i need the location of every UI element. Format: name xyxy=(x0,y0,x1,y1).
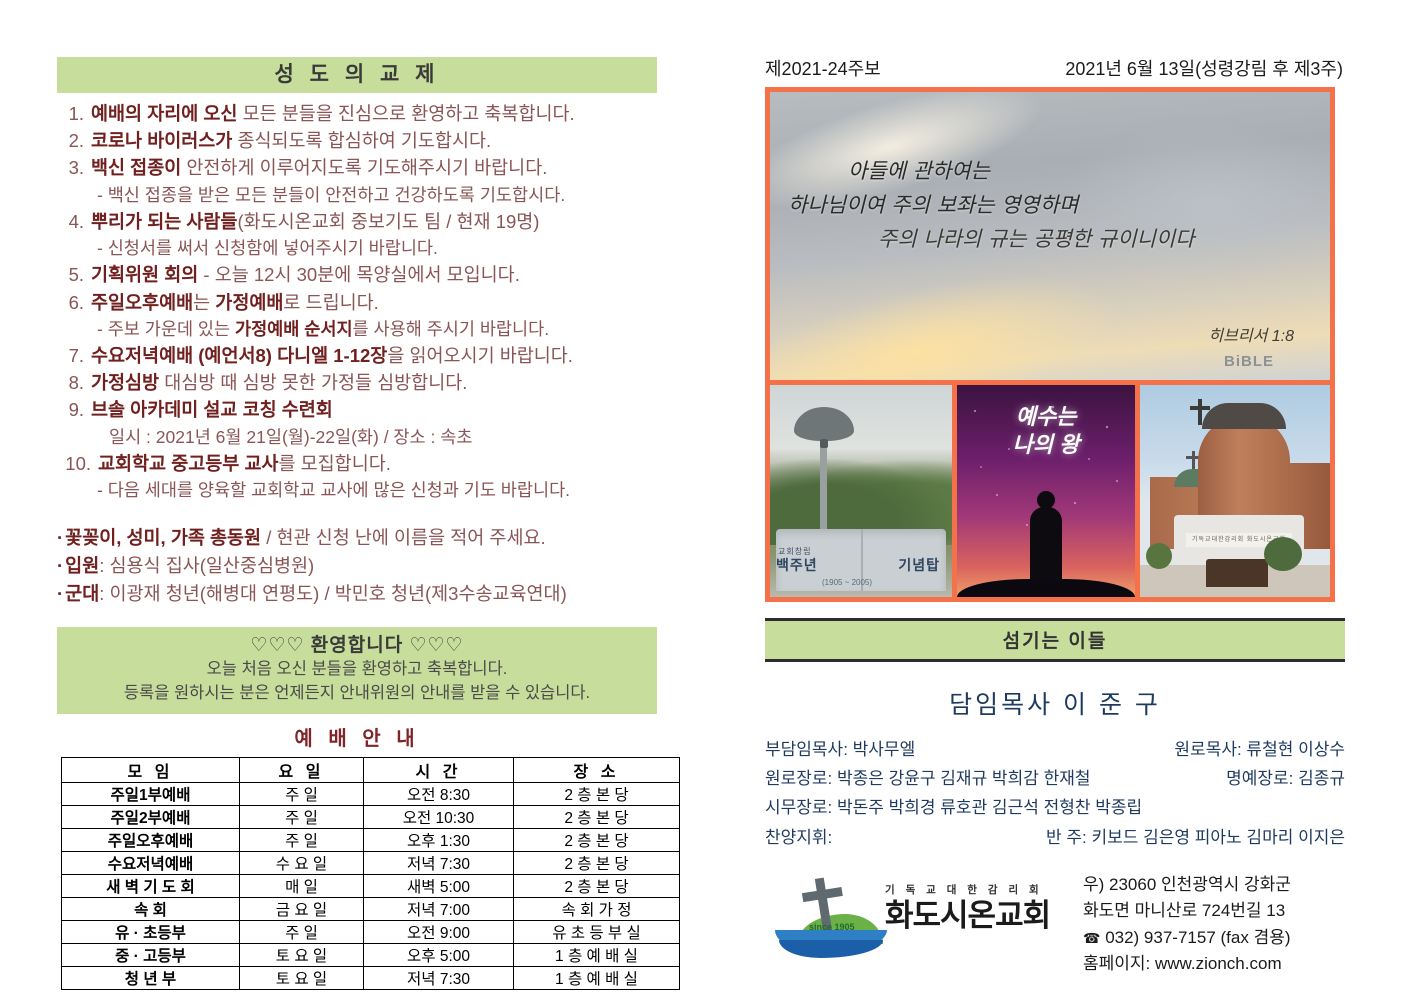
welcome-line-2: 등록을 원하시는 분은 언제든지 안내위원의 안내를 받을 수 있습니다. xyxy=(57,682,657,706)
notice-rest: - 오늘 12시 30분에 목양실에서 모입니다. xyxy=(198,264,520,285)
photo-bell-monument: 교회창립 백주년 기념탑 (1905 ~ 2005) xyxy=(770,385,952,597)
notice-item-7: 7. 수요저녁예배 (예언서8) 다니엘 1-12장을 읽어오시기 바랍니다. xyxy=(57,342,657,369)
welcome-title: ♡♡♡ 환영합니다 ♡♡♡ xyxy=(57,633,657,659)
notice-sub-10: - 다음 세대를 양육할 교회학교 교사에 많은 신청과 기도 바랍니다. xyxy=(57,477,657,503)
cell-time: 저녁 7:00 xyxy=(364,898,514,921)
verse-line-1: 아들에 관하여는 xyxy=(770,154,1330,188)
cell-meeting: 속 회 xyxy=(62,898,240,921)
cell-place: 속 회 가 정 xyxy=(514,898,680,921)
notice-text: 백신 접종이 안전하게 이루어지도록 기도해주시기 바랍니다. xyxy=(91,154,657,181)
notice-number: 3. xyxy=(57,154,91,181)
sub6-post: 를 사용해 주시기 바랍니다. xyxy=(353,319,550,339)
table-row: 중 · 고등부토 요 일오후 5:001 층 예 배 실 xyxy=(62,944,680,967)
cell-meeting: 유 · 초등부 xyxy=(62,921,240,944)
notice-list: 1. 예배의 자리에 오신 모든 분들을 진심으로 환영하고 축복합니다. 2.… xyxy=(57,100,657,503)
notice-rest-2: 로 드립니다. xyxy=(283,292,378,313)
logo-mark-icon: since 1905 xyxy=(775,878,885,956)
cell-time: 오전 10:30 xyxy=(364,806,514,829)
monument-caption-right: 기념탑 xyxy=(898,555,940,575)
notice-text: 가정심방 대심방 때 심방 못한 가정들 심방합니다. xyxy=(91,369,657,396)
small-cross-icon xyxy=(1192,451,1195,469)
table-row: 수요저녁예배수 요 일저녁 7:302 층 본 당 xyxy=(62,852,680,875)
notice-number: 2. xyxy=(57,127,91,154)
notice-emphasis: 코로나 바이러스가 xyxy=(91,130,232,151)
cell-time: 저녁 7:30 xyxy=(364,967,514,990)
notice-sub-3: - 백신 접종을 받은 모든 분들이 안전하고 건강하도록 기도합시다. xyxy=(57,182,657,208)
address-line-2: 화도면 마니산로 724번길 13 xyxy=(1083,898,1345,924)
staff-spacer xyxy=(1142,793,1345,822)
schedule-table-title: 예 배 안 내 xyxy=(57,722,657,751)
notice-item-2: 2. 코로나 바이러스가 종식되도록 합심하여 기도합시다. xyxy=(57,127,657,154)
phone-number: 032) 937-7157 (fax 겸용) xyxy=(1105,928,1290,947)
staff-right: 반 주: 키보드 김은영 피아노 김마리 이지은 xyxy=(1046,823,1345,852)
bullet-item-military: ·군대: 이광재 청년(해병대 연평도) / 박민호 청년(제3수송교육연대) xyxy=(57,580,657,608)
bullet-emphasis: 꽃꽂이, 성미, 가족 총동원 xyxy=(65,527,261,548)
notice-number: 4. xyxy=(57,208,91,235)
bullet-rest: : 이광재 청년(해병대 연평도) / 박민호 청년(제3수송교육연대) xyxy=(99,583,567,604)
cell-day: 토 요 일 xyxy=(240,944,364,967)
cell-time: 오전 9:00 xyxy=(364,921,514,944)
notice-number: 7. xyxy=(57,342,91,369)
cell-place: 유 초 등 부 실 xyxy=(514,921,680,944)
senior-pastor-name: 담임목사 이 준 구 xyxy=(765,685,1345,721)
king-line-1: 예수는 xyxy=(957,403,1135,431)
bullet-dot-icon: · xyxy=(57,527,65,548)
notice-number: 9. xyxy=(57,396,91,423)
bullet-dot-icon: · xyxy=(57,555,65,576)
notice-emphasis: 예배의 자리에 오신 xyxy=(91,103,237,124)
verse-text: 아들에 관하여는 하나님이여 주의 보좌는 영영하며 주의 나라의 규는 공평한… xyxy=(770,154,1330,256)
cell-day: 주 일 xyxy=(240,783,364,806)
cell-meeting: 수요저녁예배 xyxy=(62,852,240,875)
cell-day: 토 요 일 xyxy=(240,967,364,990)
notice-rest: 대심방 때 심방 못한 가정들 심방합니다. xyxy=(159,372,467,393)
bulletin-header: 제2021-24주보 2021년 6월 13일(성령강림 후 제3주) xyxy=(765,55,1345,87)
notice-text: 교회학교 중고등부 교사를 모집합니다. xyxy=(98,450,657,477)
notice-sub-4: - 신청서를 써서 신청함에 넣어주시기 바랍니다. xyxy=(57,235,657,261)
servants-section-title: 섬기는 이들 xyxy=(765,618,1345,662)
wave-shape xyxy=(779,940,883,958)
table-row: 청 년 부토 요 일저녁 7:301 층 예 배 실 xyxy=(62,967,680,990)
cell-time: 새벽 5:00 xyxy=(364,875,514,898)
table-row: 주일오후예배주 일오후 1:302 층 본 당 xyxy=(62,829,680,852)
bullet-list: ·꽃꽂이, 성미, 가족 총동원 / 현관 신청 난에 이름을 적어 주세요. … xyxy=(57,524,657,608)
notice-emphasis: 뿌리가 되는 사람들 xyxy=(91,211,237,232)
staff-left: 찬양지휘: xyxy=(765,823,832,852)
bullet-rest: / 현관 신청 난에 이름을 적어 주세요. xyxy=(261,527,546,548)
notice-number: 8. xyxy=(57,369,91,396)
bullet-item-hospital: ·입원: 심용식 집사(일산중심병원) xyxy=(57,552,657,580)
staff-right: 명예장로: 김종규 xyxy=(1226,764,1345,793)
notice-rest: 를 모집합니다. xyxy=(278,453,390,474)
cell-place: 2 층 본 당 xyxy=(514,783,680,806)
cell-day: 금 요 일 xyxy=(240,898,364,921)
notice-rest: 모든 분들을 진심으로 환영하고 축복합니다. xyxy=(237,103,574,124)
notice-emphasis: 기획위원 회의 xyxy=(91,264,198,285)
bush-shape xyxy=(1146,543,1172,569)
notice-item-9: 9. 브솔 아카데미 설교 코칭 수련회 xyxy=(57,396,657,423)
notice-rest: 는 xyxy=(193,292,215,313)
church-logo: since 1905 기 독 교 대 한 감 리 회 화도시온교회 xyxy=(765,872,1075,964)
photo-collage: 아들에 관하여는 하나님이여 주의 보좌는 영영하며 주의 나라의 규는 공평한… xyxy=(765,87,1335,602)
staff-row: 원로장로: 박종은 강윤구 김재규 박희감 한재철 명예장로: 김종규 xyxy=(765,764,1345,793)
cell-day: 주 일 xyxy=(240,806,364,829)
monument-caption-left: 백주년 xyxy=(776,555,818,575)
th-place: 장 소 xyxy=(514,758,680,783)
staff-left: 부담임목사: 박사무엘 xyxy=(765,735,915,764)
cell-meeting: 주일2부예배 xyxy=(62,806,240,829)
cell-meeting: 중 · 고등부 xyxy=(62,944,240,967)
cell-meeting: 새 벽 기 도 회 xyxy=(62,875,240,898)
notice-item-1: 1. 예배의 자리에 오신 모든 분들을 진심으로 환영하고 축복합니다. xyxy=(57,100,657,127)
staff-right: 원로목사: 류철현 이상수 xyxy=(1174,735,1345,764)
denomination-name: 기 독 교 대 한 감 리 회 xyxy=(885,882,1050,897)
phone-line: ☎ 032) 937-7157 (fax 겸용) xyxy=(1083,925,1345,951)
church-door-shape xyxy=(1206,559,1268,587)
cell-day: 수 요 일 xyxy=(240,852,364,875)
bible-watermark: BiBLE xyxy=(1224,353,1274,370)
verse-reference: 히브리서 1:8 xyxy=(1208,322,1294,346)
table-row: 속 회금 요 일저녁 7:00속 회 가 정 xyxy=(62,898,680,921)
bulletin-page: 성 도 의 교 제 1. 예배의 자리에 오신 모든 분들을 진심으로 환영하고… xyxy=(0,0,1403,992)
staff-spacer xyxy=(915,735,1174,764)
logo-text-block: 기 독 교 대 한 감 리 회 화도시온교회 xyxy=(885,882,1050,933)
website-line[interactable]: 홈페이지: www.zionch.com xyxy=(1083,951,1345,977)
notice-item-5: 5. 기획위원 회의 - 오늘 12시 30분에 목양실에서 모입니다. xyxy=(57,261,657,288)
notice-rest: 을 읽어오시기 바랍니다. xyxy=(387,345,573,366)
staff-row: 부담임목사: 박사무엘 원로목사: 류철현 이상수 xyxy=(765,735,1345,764)
notice-rest: 안전하게 이루어지도록 기도해주시기 바랍니다. xyxy=(181,157,547,178)
table-row: 주일2부예배주 일오전 10:302 층 본 당 xyxy=(62,806,680,829)
th-day: 요 일 xyxy=(240,758,364,783)
photo-row: 교회창립 백주년 기념탑 (1905 ~ 2005) 예수는 나의 왕 xyxy=(770,385,1330,597)
cell-place: 2 층 본 당 xyxy=(514,875,680,898)
monument-years: (1905 ~ 2005) xyxy=(822,578,872,587)
person-silhouette-icon xyxy=(1030,507,1062,581)
cell-place: 2 층 본 당 xyxy=(514,852,680,875)
cell-meeting: 주일오후예배 xyxy=(62,829,240,852)
cell-time: 오전 8:30 xyxy=(364,783,514,806)
cell-place: 1 층 예 배 실 xyxy=(514,944,680,967)
notice-text: 브솔 아카데미 설교 코칭 수련회 xyxy=(91,396,657,423)
hero-photo-sky-verse: 아들에 관하여는 하나님이여 주의 보좌는 영영하며 주의 나라의 규는 공평한… xyxy=(770,92,1330,380)
notice-emphasis: 백신 접종이 xyxy=(91,157,181,178)
photo-church-building: 기독교대한감리회 화도시온교회 xyxy=(1140,385,1330,597)
bell-clapper-shape xyxy=(820,439,828,448)
notice-number: 6. xyxy=(57,289,91,316)
notice-sub-6: - 주보 가운데 있는 가정예배 순서지를 사용해 주시기 바랍니다. xyxy=(57,316,657,342)
cell-meeting: 주일1부예배 xyxy=(62,783,240,806)
bell-icon xyxy=(794,407,854,441)
staff-row: 시무장로: 박돈주 박희경 류호관 김근석 전형찬 박종립 xyxy=(765,793,1345,822)
church-dome-shape xyxy=(1202,403,1286,429)
verse-line-3: 주의 나라의 규는 공평한 규이니이다 xyxy=(770,222,1330,256)
sub6-pre: - 주보 가운데 있는 xyxy=(97,319,235,339)
staff-left: 원로장로: 박종은 강윤구 김재규 박희감 한재철 xyxy=(765,764,1091,793)
telephone-icon: ☎ xyxy=(1083,930,1100,946)
footer: since 1905 기 독 교 대 한 감 리 회 화도시온교회 우) 230… xyxy=(765,872,1345,977)
cell-time: 저녁 7:30 xyxy=(364,852,514,875)
notice-emphasis: 브솔 아카데미 설교 코칭 수련회 xyxy=(91,399,333,420)
notice-text: 주일오후예배는 가정예배로 드립니다. xyxy=(91,289,657,316)
th-time: 시 간 xyxy=(364,758,514,783)
notice-number: 1. xyxy=(57,100,91,127)
left-column: 성 도 의 교 제 1. 예배의 자리에 오신 모든 분들을 진심으로 환영하고… xyxy=(57,57,657,990)
notice-item-6: 6. 주일오후예배는 가정예배로 드립니다. xyxy=(57,289,657,316)
notice-text: 수요저녁예배 (예언서8) 다니엘 1-12장을 읽어오시기 바랍니다. xyxy=(91,342,657,369)
notice-text: 코로나 바이러스가 종식되도록 합심하여 기도합시다. xyxy=(91,127,657,154)
notice-sub-9: 일시 : 2021년 6월 21일(월)-22일(화) / 장소 : 속초 xyxy=(57,424,657,450)
cell-meeting: 청 년 부 xyxy=(62,967,240,990)
king-line-2: 나의 왕 xyxy=(957,431,1135,459)
church-name: 화도시온교회 xyxy=(885,899,1050,933)
cell-time: 오후 1:30 xyxy=(364,829,514,852)
bullet-emphasis: 군대 xyxy=(65,583,99,604)
cell-day: 주 일 xyxy=(240,921,364,944)
notice-emphasis: 주일오후예배 xyxy=(91,292,193,313)
address-line-1: 우) 23060 인천광역시 강화군 xyxy=(1083,872,1345,898)
table-row: 새 벽 기 도 회매 일새벽 5:002 층 본 당 xyxy=(62,875,680,898)
cross-icon xyxy=(1198,399,1202,425)
right-column: 제2021-24주보 2021년 6월 13일(성령강림 후 제3주) 아들에 … xyxy=(765,55,1345,977)
cell-day: 매 일 xyxy=(240,875,364,898)
notice-text: 뿌리가 되는 사람들(화도시온교회 중보기도 팀 / 현재 19명) xyxy=(91,208,657,235)
staff-spacer xyxy=(1091,764,1227,793)
notice-rest: (화도시온교회 중보기도 팀 / 현재 19명) xyxy=(237,211,539,232)
section-title-fellowship: 성 도 의 교 제 xyxy=(57,57,657,93)
notice-item-3: 3. 백신 접종이 안전하게 이루어지도록 기도해주시기 바랍니다. xyxy=(57,154,657,181)
table-row: 유 · 초등부주 일오전 9:00유 초 등 부 실 xyxy=(62,921,680,944)
bulletin-number: 제2021-24주보 xyxy=(765,55,881,81)
notice-number: 5. xyxy=(57,261,91,288)
staff-row: 찬양지휘: 반 주: 키보드 김은영 피아노 김마리 이지은 xyxy=(765,823,1345,852)
welcome-box: ♡♡♡ 환영합니다 ♡♡♡ 오늘 처음 오신 분들을 환영하고 축복합니다. 등… xyxy=(57,627,657,714)
staff-left: 시무장로: 박돈주 박희경 류호관 김근석 전형찬 박종립 xyxy=(765,793,1142,822)
bulletin-date: 2021년 6월 13일(성령강림 후 제3주) xyxy=(1065,55,1345,81)
sub6-emphasis: 가정예배 순서지 xyxy=(235,319,353,339)
jesus-king-text: 예수는 나의 왕 xyxy=(957,403,1135,458)
bullet-dot-icon: · xyxy=(57,583,65,604)
cell-day: 주 일 xyxy=(240,829,364,852)
welcome-line-1: 오늘 처음 오신 분들을 환영하고 축복합니다. xyxy=(57,658,657,682)
table-row: 주일1부예배주 일오전 8:302 층 본 당 xyxy=(62,783,680,806)
photo-jesus-is-king: 예수는 나의 왕 xyxy=(957,385,1135,597)
notice-emphasis: 수요저녁예배 (예언서8) 다니엘 1-12장 xyxy=(91,345,387,366)
cell-place: 2 층 본 당 xyxy=(514,829,680,852)
bush-shape xyxy=(1264,537,1302,571)
worship-schedule-table: 모 임 요 일 시 간 장 소 주일1부예배주 일오전 8:302 층 본 당 … xyxy=(61,757,680,990)
contact-info: 우) 23060 인천광역시 강화군 화도면 마니산로 724번길 13 ☎ 0… xyxy=(1075,872,1345,977)
th-meeting: 모 임 xyxy=(62,758,240,783)
notice-item-8: 8. 가정심방 대심방 때 심방 못한 가정들 심방합니다. xyxy=(57,369,657,396)
bullet-emphasis: 입원 xyxy=(65,555,99,576)
bullet-item-flowers: ·꽃꽂이, 성미, 가족 총동원 / 현관 신청 난에 이름을 적어 주세요. xyxy=(57,524,657,552)
staff-spacer xyxy=(832,823,1046,852)
notice-item-10: 10. 교회학교 중고등부 교사를 모집합니다. xyxy=(57,450,657,477)
cell-time: 오후 5:00 xyxy=(364,944,514,967)
notice-item-4: 4. 뿌리가 되는 사람들(화도시온교회 중보기도 팀 / 현재 19명) xyxy=(57,208,657,235)
cell-place: 1 층 예 배 실 xyxy=(514,967,680,990)
staff-list: 부담임목사: 박사무엘 원로목사: 류철현 이상수 원로장로: 박종은 강윤구 … xyxy=(765,735,1345,852)
notice-text: 예배의 자리에 오신 모든 분들을 진심으로 환영하고 축복합니다. xyxy=(91,100,657,127)
notice-emphasis-2: 가정예배 xyxy=(215,292,283,313)
notice-rest: 종식되도록 합심하여 기도합시다. xyxy=(232,130,491,151)
notice-number: 10. xyxy=(57,450,98,477)
cell-place: 2 층 본 당 xyxy=(514,806,680,829)
cloud-shape xyxy=(770,241,1139,380)
bullet-rest: : 심용식 집사(일산중심병원) xyxy=(99,555,314,576)
notice-emphasis: 교회학교 중고등부 교사 xyxy=(98,453,278,474)
table-header-row: 모 임 요 일 시 간 장 소 xyxy=(62,758,680,783)
verse-line-2: 하나님이여 주의 보좌는 영영하며 xyxy=(770,188,1330,222)
notice-emphasis: 가정심방 xyxy=(91,372,159,393)
notice-text: 기획위원 회의 - 오늘 12시 30분에 목양실에서 모입니다. xyxy=(91,261,657,288)
